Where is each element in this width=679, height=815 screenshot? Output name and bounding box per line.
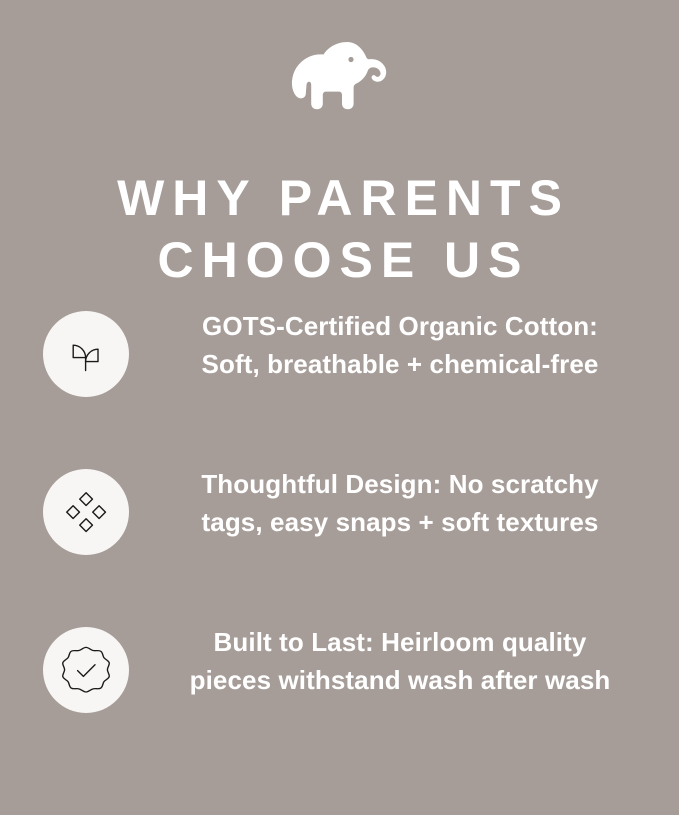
feature-item-built-to-last: Built to Last: Heirloom quality pieces w…: [0, 613, 679, 771]
elephant-icon: [289, 37, 391, 111]
feature-item-thoughtful-design: Thoughtful Design: No scratchy tags, eas…: [0, 455, 679, 613]
feature-list: GOTS-Certified Organic Cotton: Soft, bre…: [0, 297, 679, 771]
feature-line-1: GOTS-Certified Organic Cotton:: [144, 307, 656, 345]
feature-icon-badge: [43, 627, 129, 713]
four-diamonds-icon: [63, 489, 109, 535]
feature-line-2: tags, easy snaps + soft textures: [144, 503, 656, 541]
feature-item-organic-cotton: GOTS-Certified Organic Cotton: Soft, bre…: [0, 297, 679, 455]
page-title: WHY PARENTS CHOOSE US: [0, 167, 679, 291]
feature-line-2: pieces withstand wash after wash: [144, 661, 656, 699]
feature-line-1: Thoughtful Design: No scratchy: [144, 465, 656, 503]
promo-poster: WHY PARENTS CHOOSE US GOTS-Certifie: [0, 0, 679, 815]
headline-line-2: CHOOSE US: [0, 229, 679, 291]
feature-line-1: Built to Last: Heirloom quality: [144, 623, 656, 661]
feature-icon-badge: [43, 469, 129, 555]
brand-logo: [0, 34, 679, 114]
feature-text: GOTS-Certified Organic Cotton: Soft, bre…: [144, 307, 656, 383]
scalloped-check-badge-icon: [62, 646, 110, 694]
feature-text: Thoughtful Design: No scratchy tags, eas…: [144, 465, 656, 541]
feature-line-2: Soft, breathable + chemical-free: [144, 345, 656, 383]
sprout-leaf-icon: [63, 331, 109, 377]
feature-text: Built to Last: Heirloom quality pieces w…: [144, 623, 656, 699]
feature-icon-badge: [43, 311, 129, 397]
headline-line-1: WHY PARENTS: [0, 167, 679, 229]
